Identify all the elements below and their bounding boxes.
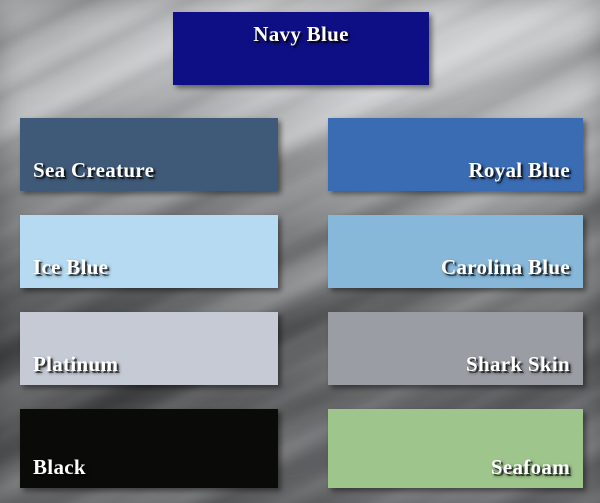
swatch-royal-blue[interactable]: Royal Blue	[328, 118, 583, 191]
swatch-carolina-blue[interactable]: Carolina Blue	[328, 215, 583, 288]
swatch-navy-blue[interactable]: Navy Blue	[173, 12, 429, 85]
swatch-shark-skin[interactable]: Shark Skin	[328, 312, 583, 385]
swatch-ice-blue[interactable]: Ice Blue	[20, 215, 278, 288]
swatch-label: Shark Skin	[466, 352, 570, 377]
swatch-black[interactable]: Black	[20, 409, 278, 488]
swatch-label: Black	[33, 455, 86, 480]
swatch-seafoam[interactable]: Seafoam	[328, 409, 583, 488]
swatch-label: Carolina Blue	[441, 255, 570, 280]
swatch-sea-creature[interactable]: Sea Creature	[20, 118, 278, 191]
swatch-label: Navy Blue	[173, 22, 429, 47]
swatch-platinum[interactable]: Platinum	[20, 312, 278, 385]
color-swatch-chart: Navy BlueSea CreatureRoyal BlueIce BlueC…	[0, 0, 600, 503]
swatch-label: Ice Blue	[33, 255, 108, 280]
swatch-label: Royal Blue	[468, 158, 570, 183]
swatch-label: Seafoam	[491, 455, 570, 480]
swatch-label: Sea Creature	[33, 158, 154, 183]
swatch-label: Platinum	[33, 352, 118, 377]
